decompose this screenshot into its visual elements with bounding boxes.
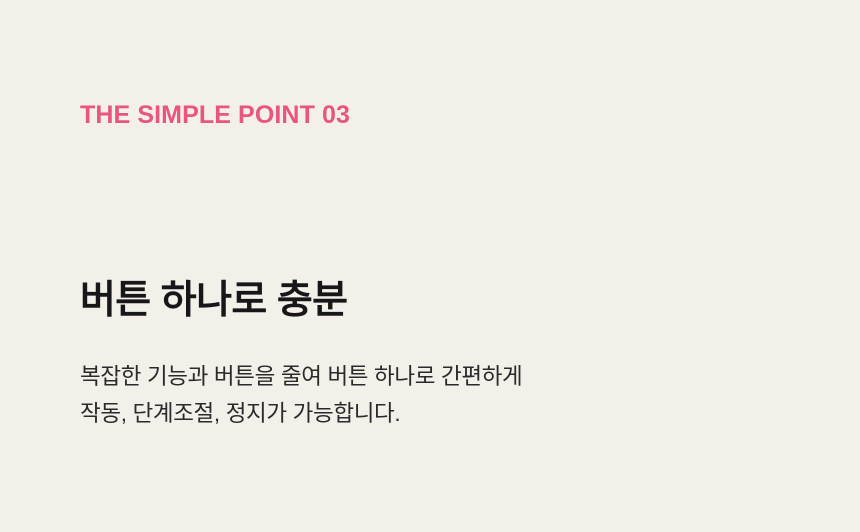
page-title: 버튼 하나로 충분	[80, 278, 347, 323]
body-line-2: 작동, 단계조절, 정지가 가능합니다.	[80, 395, 522, 432]
body-line-1: 복잡한 기능과 버튼을 줄여 버튼 하나로 간편하게	[80, 358, 522, 395]
promo-slide: THE SIMPLE POINT 03 버튼 하나로 충분 복잡한 기능과 버튼…	[0, 0, 860, 532]
eyebrow-label: THE SIMPLE POINT 03	[80, 101, 350, 131]
body-paragraph: 복잡한 기능과 버튼을 줄여 버튼 하나로 간편하게 작동, 단계조절, 정지가…	[80, 358, 522, 432]
